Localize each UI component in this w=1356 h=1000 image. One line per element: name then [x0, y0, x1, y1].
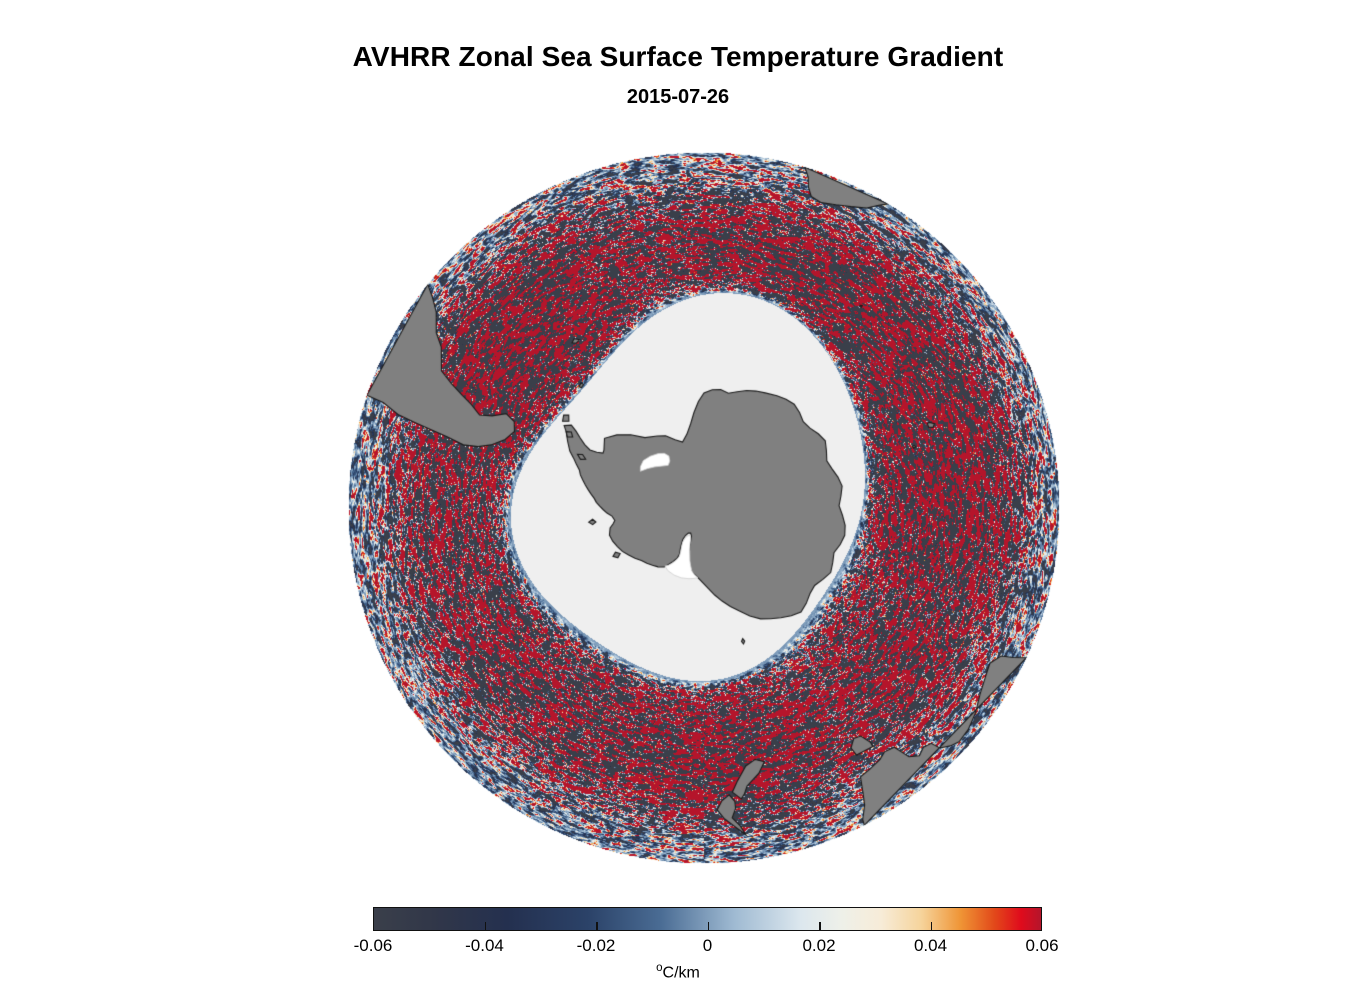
colorbar-tick-label: 0.06 — [1025, 936, 1058, 956]
figure-root: AVHRR Zonal Sea Surface Temperature Grad… — [0, 0, 1356, 1000]
colorbar-unit-label: oC/km — [0, 962, 1356, 982]
polar-map — [348, 152, 1060, 864]
colorbar-tick-label: -0.04 — [465, 936, 504, 956]
colorbar-tick-label: -0.02 — [577, 936, 616, 956]
colorbar-tick — [931, 922, 933, 931]
map-graticule-overlay — [348, 152, 1060, 864]
colorbar-tick — [708, 922, 710, 931]
colorbar-tick-label: 0.04 — [914, 936, 947, 956]
colorbar-tick — [819, 922, 821, 931]
colorbar-tick-label: -0.06 — [354, 936, 393, 956]
colorbar-tick-label: 0 — [703, 936, 712, 956]
colorbar-tick — [485, 922, 487, 931]
colorbar-ticks — [373, 907, 1042, 931]
colorbar-tick — [596, 922, 598, 931]
figure-subtitle: 2015-07-26 — [0, 86, 1356, 109]
page-title: AVHRR Zonal Sea Surface Temperature Grad… — [0, 41, 1356, 73]
colorbar — [373, 907, 1042, 931]
colorbar-tick-label: 0.02 — [802, 936, 835, 956]
